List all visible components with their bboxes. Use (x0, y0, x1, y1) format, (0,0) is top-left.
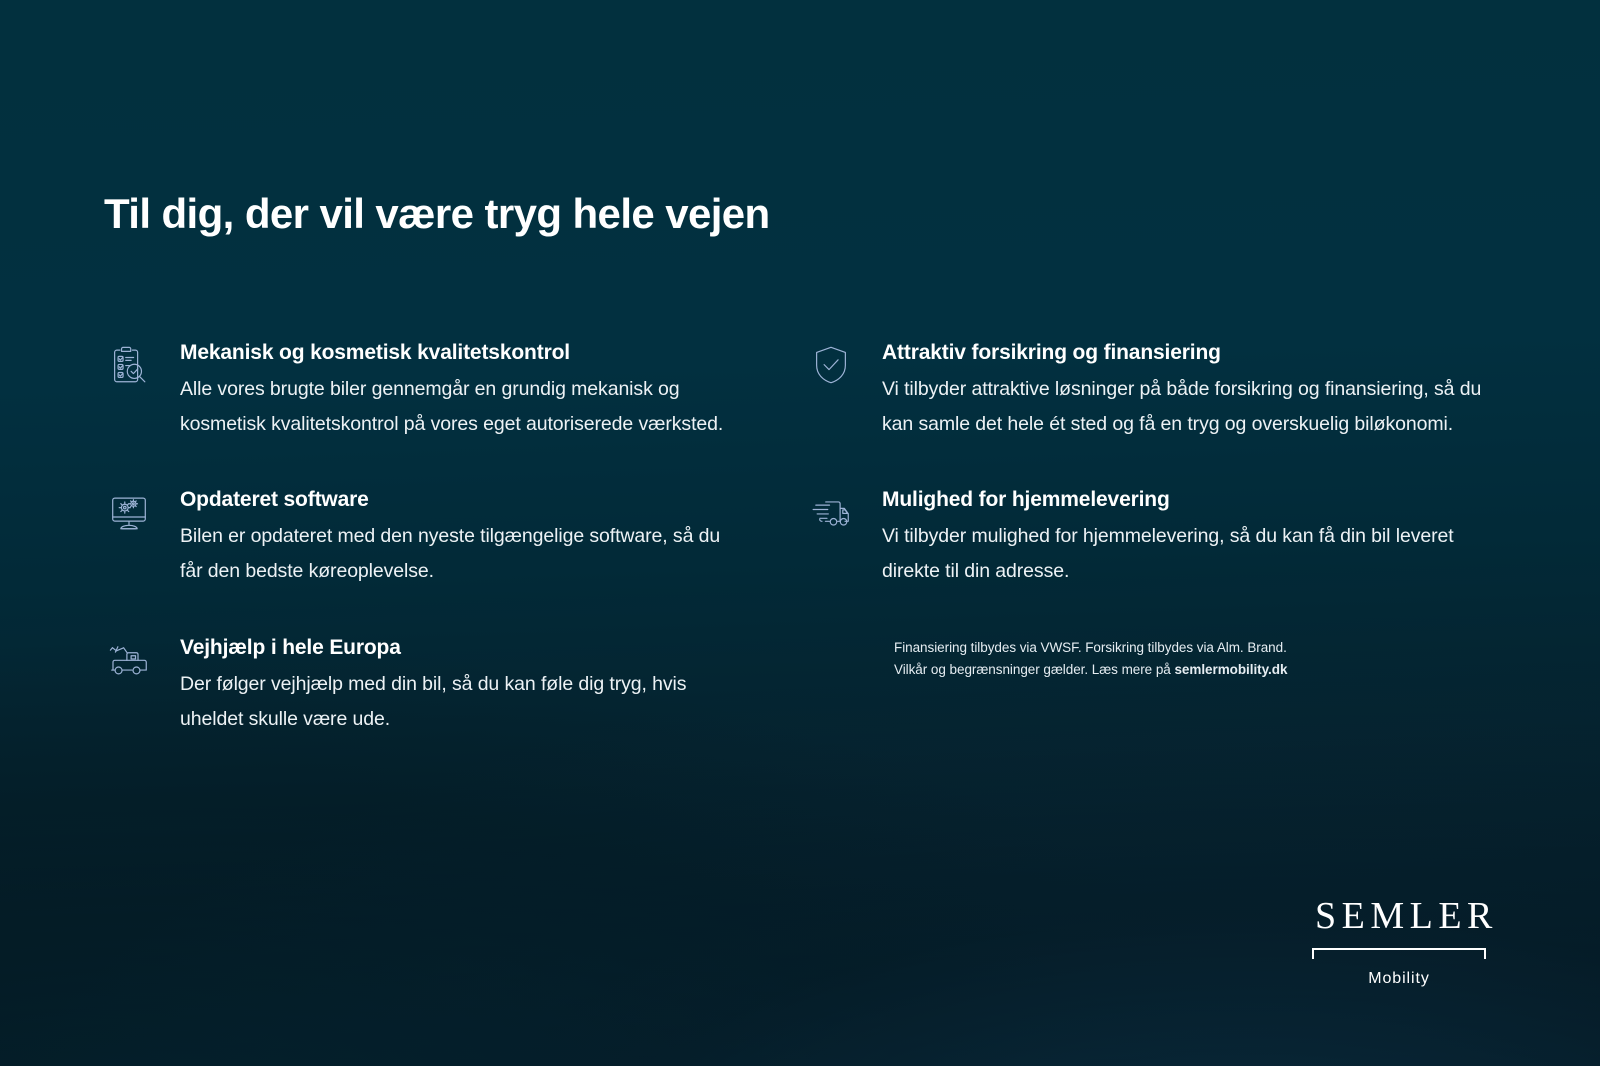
semler-mobility-logo: SEMLER Mobility (1310, 897, 1488, 988)
feature-title: Mulighed for hjemmelevering (882, 488, 1492, 512)
clipboard-check-magnifier-icon (100, 340, 158, 398)
feature-column-left: Mekanisk og kosmetisk kvalitetskontrol A… (100, 340, 740, 736)
feature-text: Vi tilbyder attraktive løsninger på både… (882, 372, 1492, 441)
feature-body: Vejhjælp i hele Europa Der følger vejhjæ… (180, 635, 740, 736)
page-title: Til dig, der vil være tryg hele vejen (104, 190, 770, 238)
feature-item-home-delivery: Mulighed for hjemmelevering Vi tilbyder … (802, 487, 1492, 588)
feature-title: Mekanisk og kosmetisk kvalitetskontrol (180, 341, 740, 365)
feature-item-quality-control: Mekanisk og kosmetisk kvalitetskontrol A… (100, 340, 740, 441)
feature-text: Vi tilbyder mulighed for hjemmelevering,… (882, 519, 1492, 588)
logo-subtitle: Mobility (1310, 970, 1488, 988)
feature-text: Alle vores brugte biler gennemgår en gru… (180, 372, 740, 441)
shield-check-icon (802, 340, 860, 398)
disclaimer-line-1: Finansiering tilbydes via VWSF. Forsikri… (894, 640, 1287, 655)
feature-text: Der følger vejhjælp med din bil, så du k… (180, 667, 740, 736)
feature-body: Mekanisk og kosmetisk kvalitetskontrol A… (180, 340, 740, 441)
logo-wordmark: SEMLER (1310, 897, 1488, 935)
feature-item-insurance-financing: Attraktiv forsikring og finansiering Vi … (802, 340, 1492, 441)
feature-item-roadside-assistance: Vejhjælp i hele Europa Der følger vejhjæ… (100, 635, 740, 736)
disclaimer-text: Finansiering tilbydes via VWSF. Forsikri… (894, 637, 1414, 682)
monitor-gears-icon (100, 487, 158, 545)
delivery-truck-icon (802, 487, 860, 545)
feature-text: Bilen er opdateret med den nyeste tilgæn… (180, 519, 740, 588)
promo-panel: Til dig, der vil være tryg hele vejen (0, 0, 1600, 1066)
feature-item-updated-software: Opdateret software Bilen er opdateret me… (100, 487, 740, 588)
disclaimer-line-2-prefix: Vilkår og begrænsninger gælder. Læs mere… (894, 662, 1174, 677)
feature-body: Attraktiv forsikring og finansiering Vi … (882, 340, 1492, 441)
feature-column-right: Attraktiv forsikring og finansiering Vi … (802, 340, 1492, 681)
disclaimer-link[interactable]: semlermobility.dk (1174, 662, 1287, 677)
feature-title: Vejhjælp i hele Europa (180, 636, 740, 660)
tow-truck-icon (100, 635, 158, 693)
logo-divider-rule (1310, 948, 1488, 959)
feature-body: Mulighed for hjemmelevering Vi tilbyder … (882, 487, 1492, 588)
feature-body: Opdateret software Bilen er opdateret me… (180, 487, 740, 588)
feature-title: Attraktiv forsikring og finansiering (882, 341, 1492, 365)
feature-title: Opdateret software (180, 488, 740, 512)
